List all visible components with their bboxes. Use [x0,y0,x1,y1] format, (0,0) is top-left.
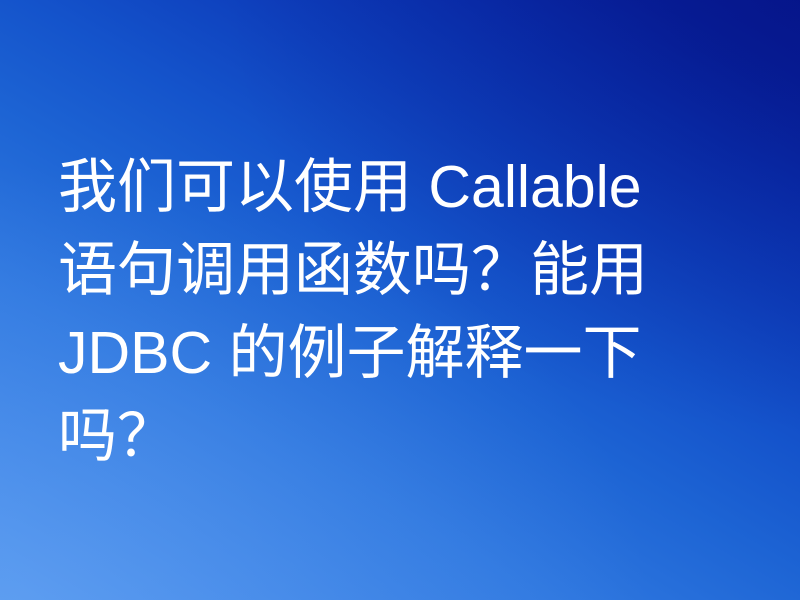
question-text: 我们可以使用 Callable 语句调用函数吗？能用 JDBC 的例子解释一下吗… [58,146,682,478]
question-card: 我们可以使用 Callable 语句调用函数吗？能用 JDBC 的例子解释一下吗… [0,0,800,600]
question-block: 我们可以使用 Callable 语句调用函数吗？能用 JDBC 的例子解释一下吗… [58,146,682,478]
